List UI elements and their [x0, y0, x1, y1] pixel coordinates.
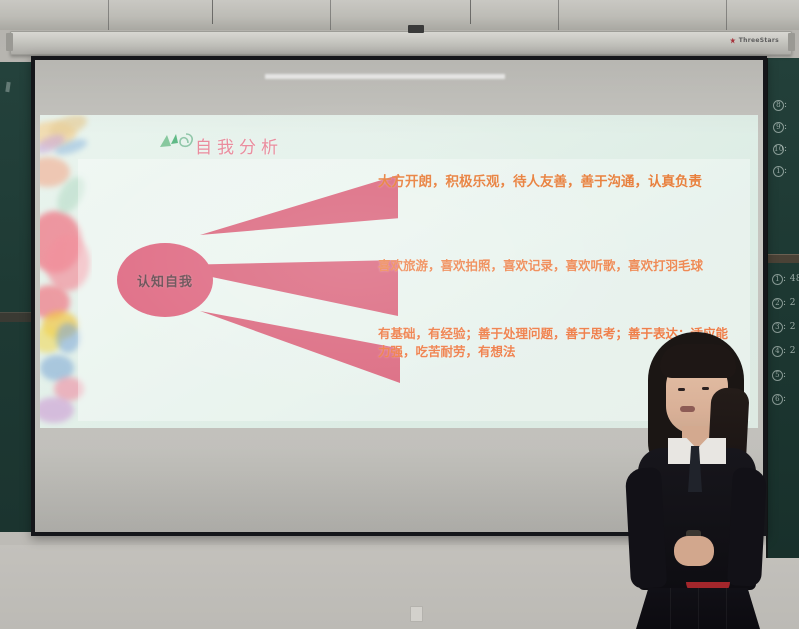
wall-outlet: [410, 606, 423, 622]
projector-screen-housing: ThreeStars: [10, 31, 792, 55]
brand-name: ThreeStars: [739, 37, 779, 44]
hair-bangs: [660, 344, 736, 378]
chalk-note: 10:: [773, 144, 787, 155]
swirl-ornament-icon: [158, 131, 198, 155]
chalk-note: 2: 2: [772, 298, 796, 309]
slide-title: 自我分析: [195, 133, 283, 158]
ceiling-wire: [212, 0, 213, 24]
chalk-note: 9:: [773, 122, 787, 133]
chalkboard-left: [0, 62, 35, 532]
screen-roller-end: [788, 33, 795, 51]
chalk-rail: [0, 312, 33, 322]
mouth: [680, 406, 695, 412]
eye: [702, 387, 709, 390]
chalk-note: 1: 48: [772, 274, 799, 285]
branch-text-1: 大方开朗，积极乐观，待人友善，善于沟通，认真负责: [378, 173, 730, 192]
ceiling-seam: [726, 0, 727, 30]
chalk-mark: [5, 82, 10, 92]
ceiling-seam: [108, 0, 109, 30]
screen-mount-bracket: [408, 25, 424, 33]
ceiling-seam: [330, 0, 331, 30]
center-node: 认知自我: [117, 243, 213, 317]
chalk-rail: [768, 254, 799, 263]
screen-light-reflection: [265, 74, 505, 79]
ceiling-seam: [558, 0, 559, 30]
skirt-fold: [670, 588, 671, 629]
eye: [678, 388, 685, 391]
projector-brand-label: ThreeStars: [730, 37, 779, 44]
presenter: [612, 330, 778, 629]
arm-left: [625, 467, 667, 589]
star-icon: [730, 38, 736, 44]
hands: [674, 536, 714, 566]
screen-roller-end: [6, 33, 13, 51]
branch-text-2: 喜欢旅游，喜欢拍照，喜欢记录，喜欢听歌，喜欢打羽毛球: [378, 257, 730, 275]
skirt-fold: [726, 588, 727, 629]
skirt-fold: [698, 588, 699, 629]
arm-right: [727, 467, 767, 587]
classroom-scene: 8: 9: 10: 1: 1: 48 2: 2 3: 2 4: 2 5: 6:: [0, 0, 799, 629]
chalk-note: 1:: [773, 166, 787, 177]
ceiling-wire: [470, 0, 471, 24]
center-node-label: 认知自我: [137, 271, 193, 290]
chalk-note: 8:: [773, 100, 787, 111]
ceiling: [0, 0, 799, 30]
